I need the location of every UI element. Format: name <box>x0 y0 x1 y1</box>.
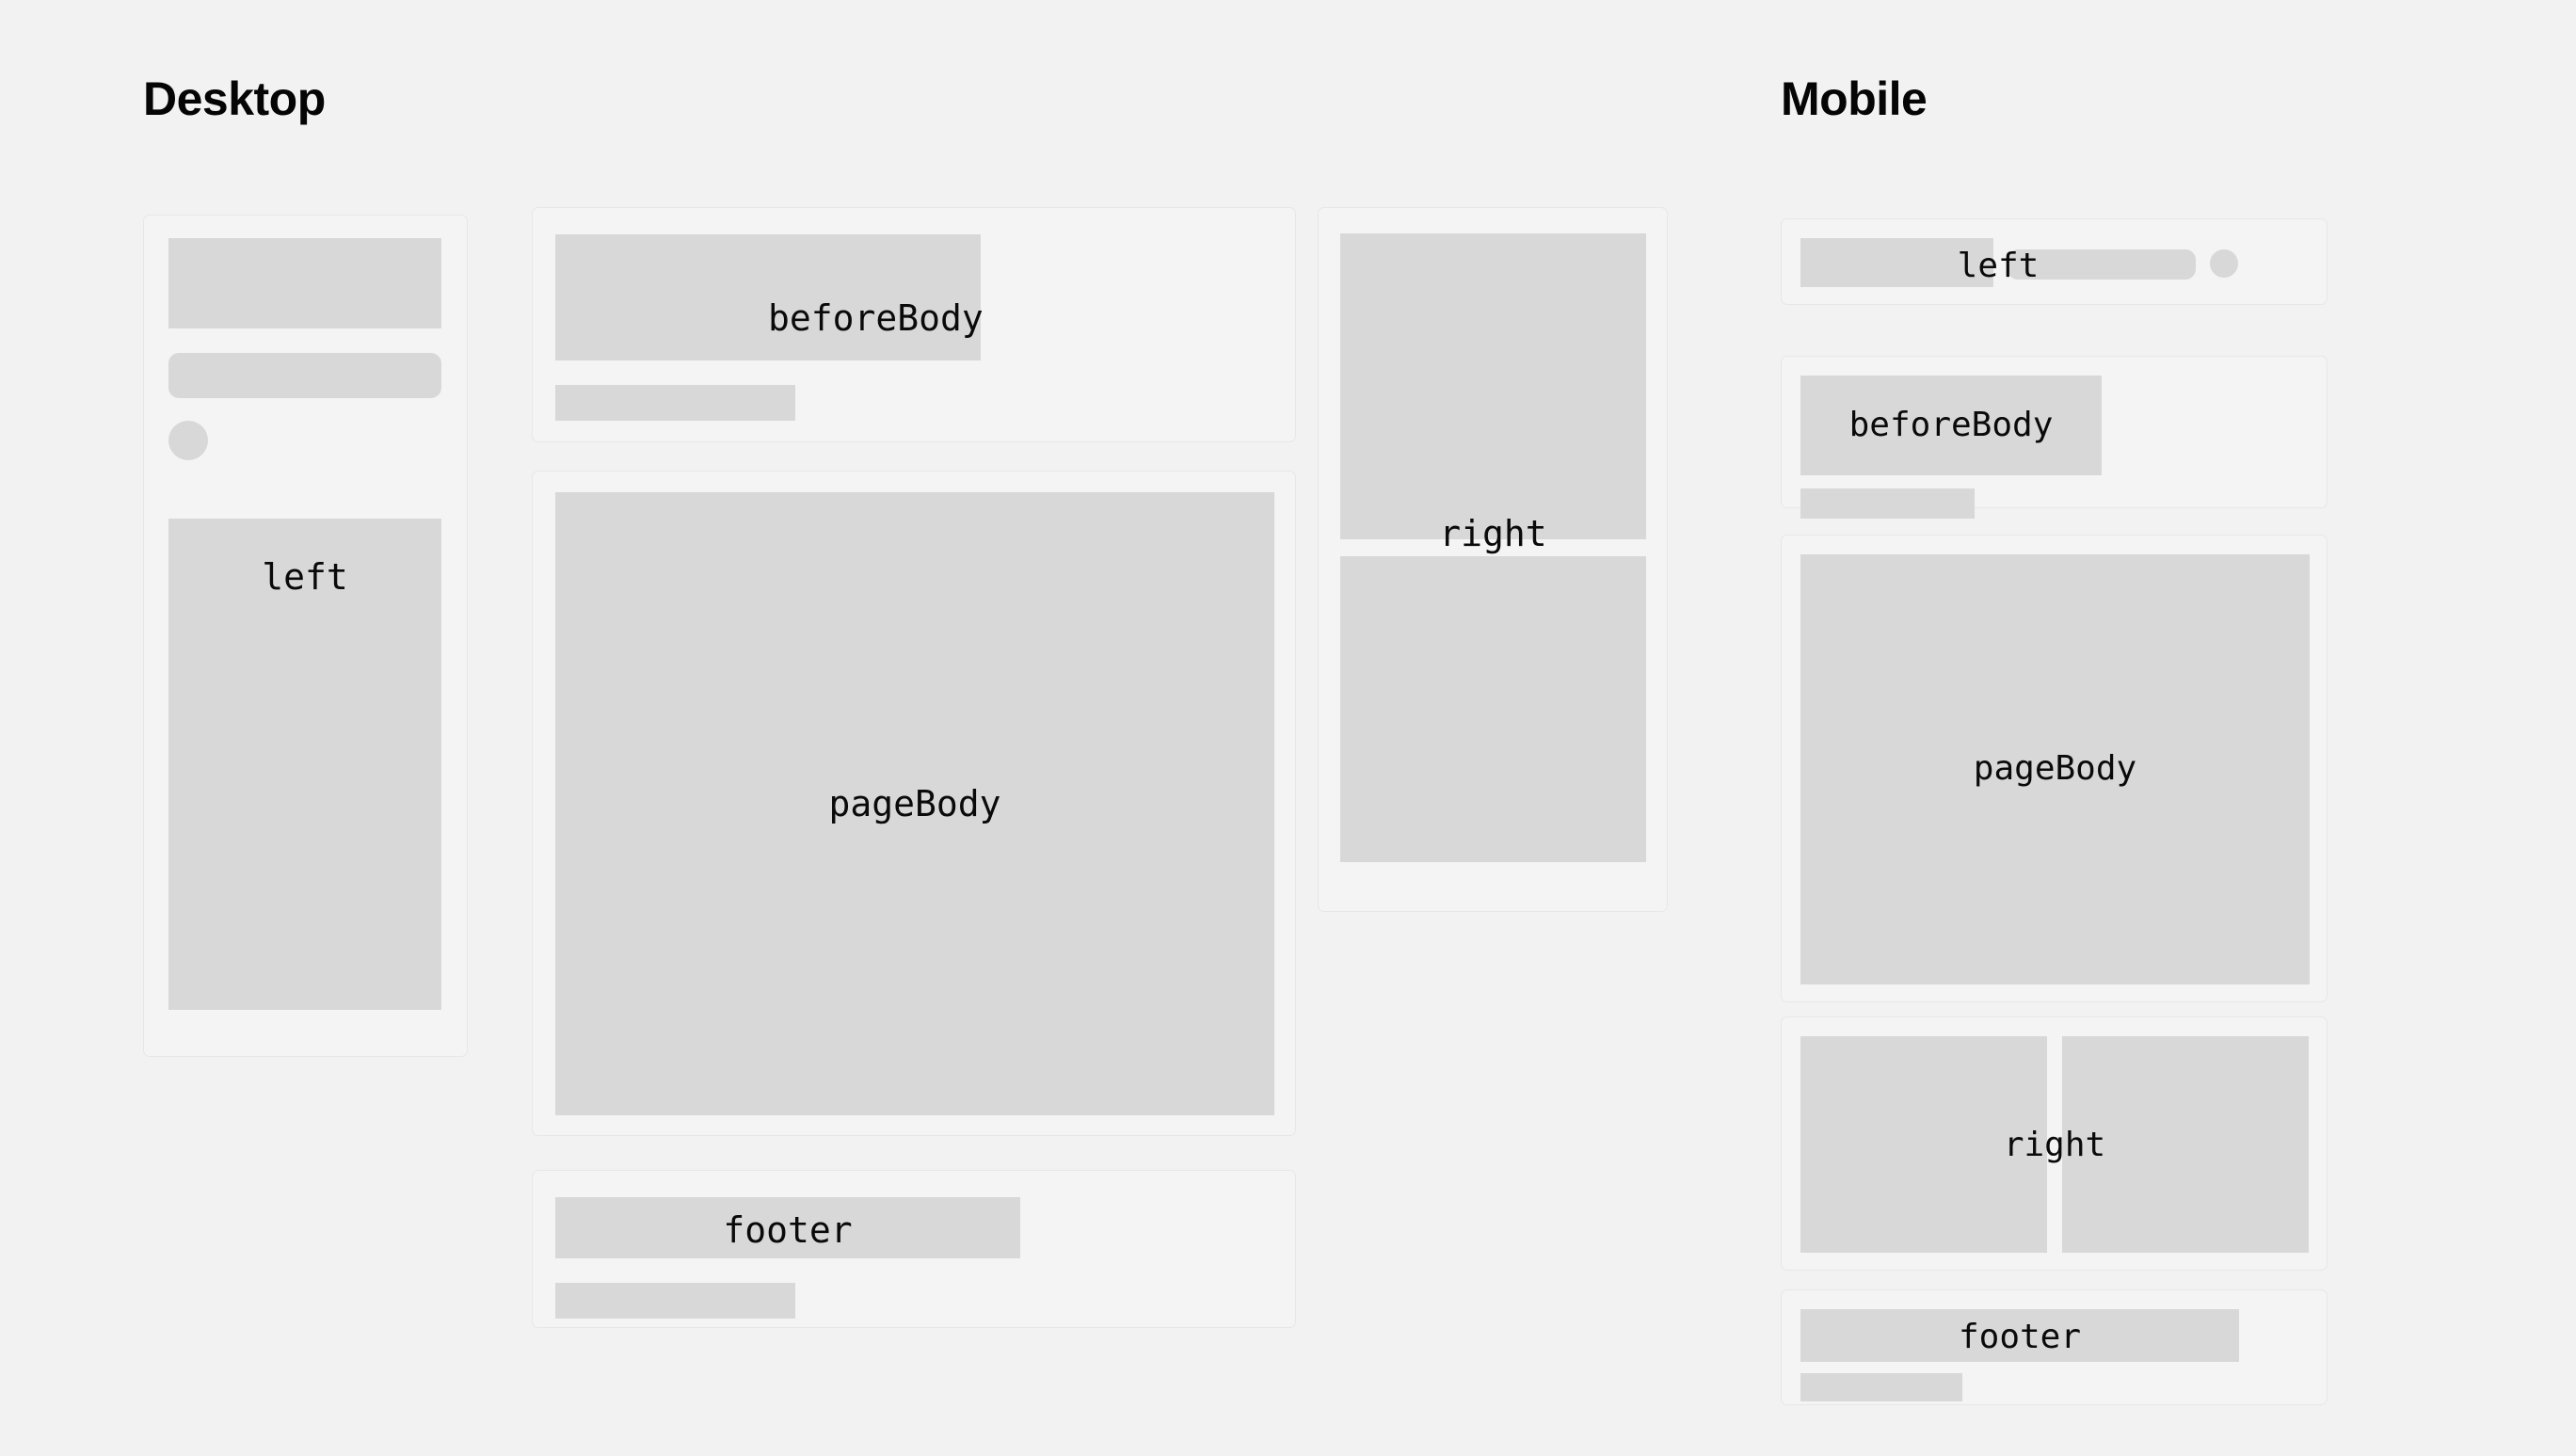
placeholder-rect-large <box>555 492 1274 1115</box>
mobile-slot-pagebody[interactable]: pageBody <box>1781 535 2328 1002</box>
placeholder-rect-bottom <box>1340 556 1646 862</box>
desktop-slot-left[interactable]: left <box>143 215 468 1057</box>
placeholder-rect <box>1800 238 1993 287</box>
placeholder-rect-tall <box>168 519 441 1010</box>
placeholder-rect-wide <box>1800 1309 2239 1362</box>
mobile-section-title: Mobile <box>1781 75 1927 122</box>
wireframe-canvas: Desktop left beforeBody pageBody right f… <box>0 0 2576 1456</box>
placeholder-rect-right <box>2062 1036 2309 1253</box>
desktop-slot-right[interactable]: right <box>1318 207 1668 912</box>
placeholder-circle <box>2210 249 2238 278</box>
placeholder-pill <box>2008 249 2196 280</box>
mobile-slot-footer[interactable]: footer <box>1781 1289 2328 1405</box>
placeholder-pill <box>168 353 441 398</box>
mobile-slot-left[interactable]: left <box>1781 218 2328 305</box>
placeholder-circle <box>168 421 208 460</box>
placeholder-rect-wide <box>555 1197 1020 1258</box>
desktop-slot-beforebody[interactable]: beforeBody <box>532 207 1296 442</box>
placeholder-rect-left <box>1800 1036 2047 1253</box>
placeholder-rect-small <box>555 385 795 421</box>
placeholder-rect-top <box>1340 233 1646 539</box>
placeholder-rect-small <box>1800 1373 1962 1401</box>
placeholder-rect-wide <box>1800 376 2102 475</box>
mobile-slot-right[interactable]: right <box>1781 1016 2328 1271</box>
desktop-slot-footer[interactable]: footer <box>532 1170 1296 1328</box>
placeholder-rect-wide <box>555 234 981 360</box>
placeholder-rect <box>168 238 441 328</box>
placeholder-rect-large <box>1800 554 2310 984</box>
mobile-slot-beforebody[interactable]: beforeBody <box>1781 356 2328 508</box>
desktop-section-title: Desktop <box>143 75 326 122</box>
placeholder-rect-small <box>555 1283 795 1319</box>
placeholder-rect-small <box>1800 488 1975 519</box>
desktop-slot-pagebody[interactable]: pageBody <box>532 471 1296 1136</box>
